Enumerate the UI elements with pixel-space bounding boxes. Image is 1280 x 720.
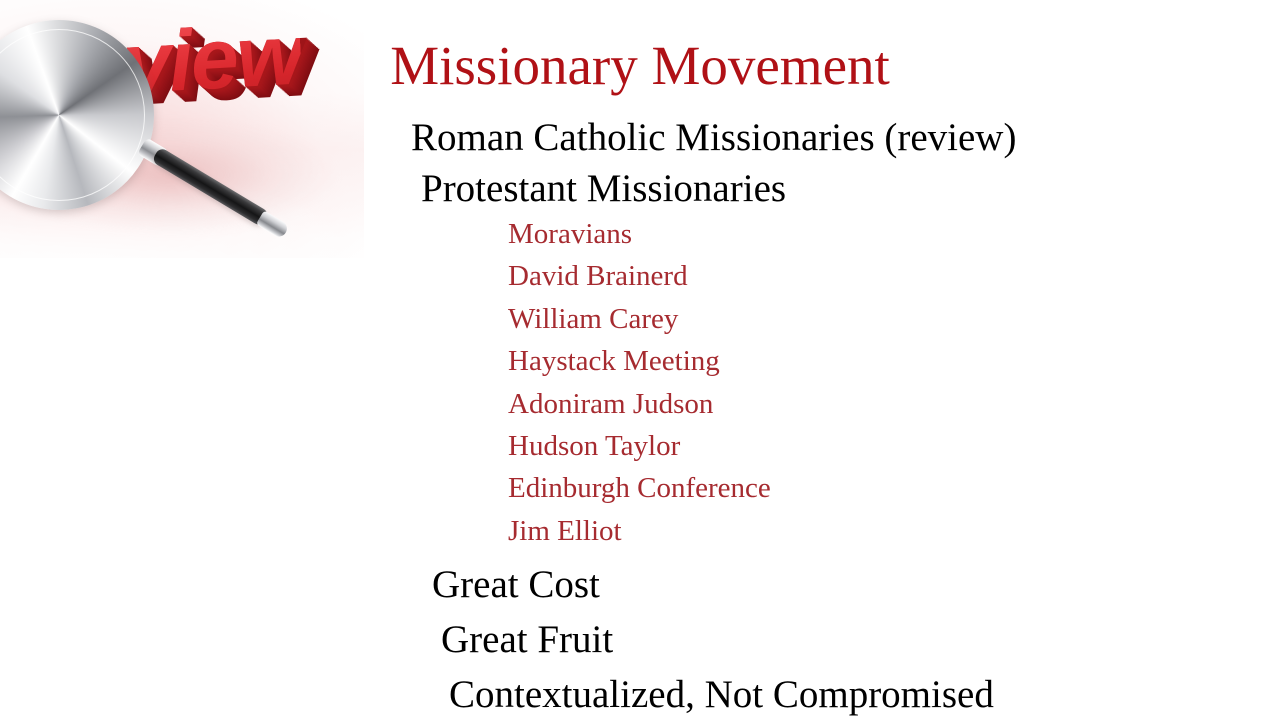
slide-title: Missionary Movement	[0, 38, 1280, 93]
bullet-roman-catholic-missionaries: Roman Catholic Missionaries (review)	[411, 118, 1016, 157]
bullet-protestant-missionaries: Protestant Missionaries	[421, 169, 786, 208]
sub-bullet-haystack-meeting: Haystack Meeting	[508, 347, 720, 376]
sub-bullet-edinburgh-conference: Edinburgh Conference	[508, 474, 771, 503]
bullet-great-fruit: Great Fruit	[441, 620, 613, 659]
sub-bullet-hudson-taylor: Hudson Taylor	[508, 432, 680, 461]
bullet-great-cost: Great Cost	[432, 565, 600, 604]
sub-bullet-jim-elliot: Jim Elliot	[508, 517, 622, 546]
bullet-contextualized-not-compromised: Contextualized, Not Compromised	[449, 675, 994, 714]
sub-bullet-adoniram-judson: Adoniram Judson	[508, 390, 713, 419]
presentation-slide: Review Review Missionary Movement Roman …	[0, 0, 1280, 720]
sub-bullet-william-carey: William Carey	[508, 305, 678, 334]
sub-bullet-moravians: Moravians	[508, 220, 632, 249]
sub-bullet-david-brainerd: David Brainerd	[508, 262, 688, 291]
